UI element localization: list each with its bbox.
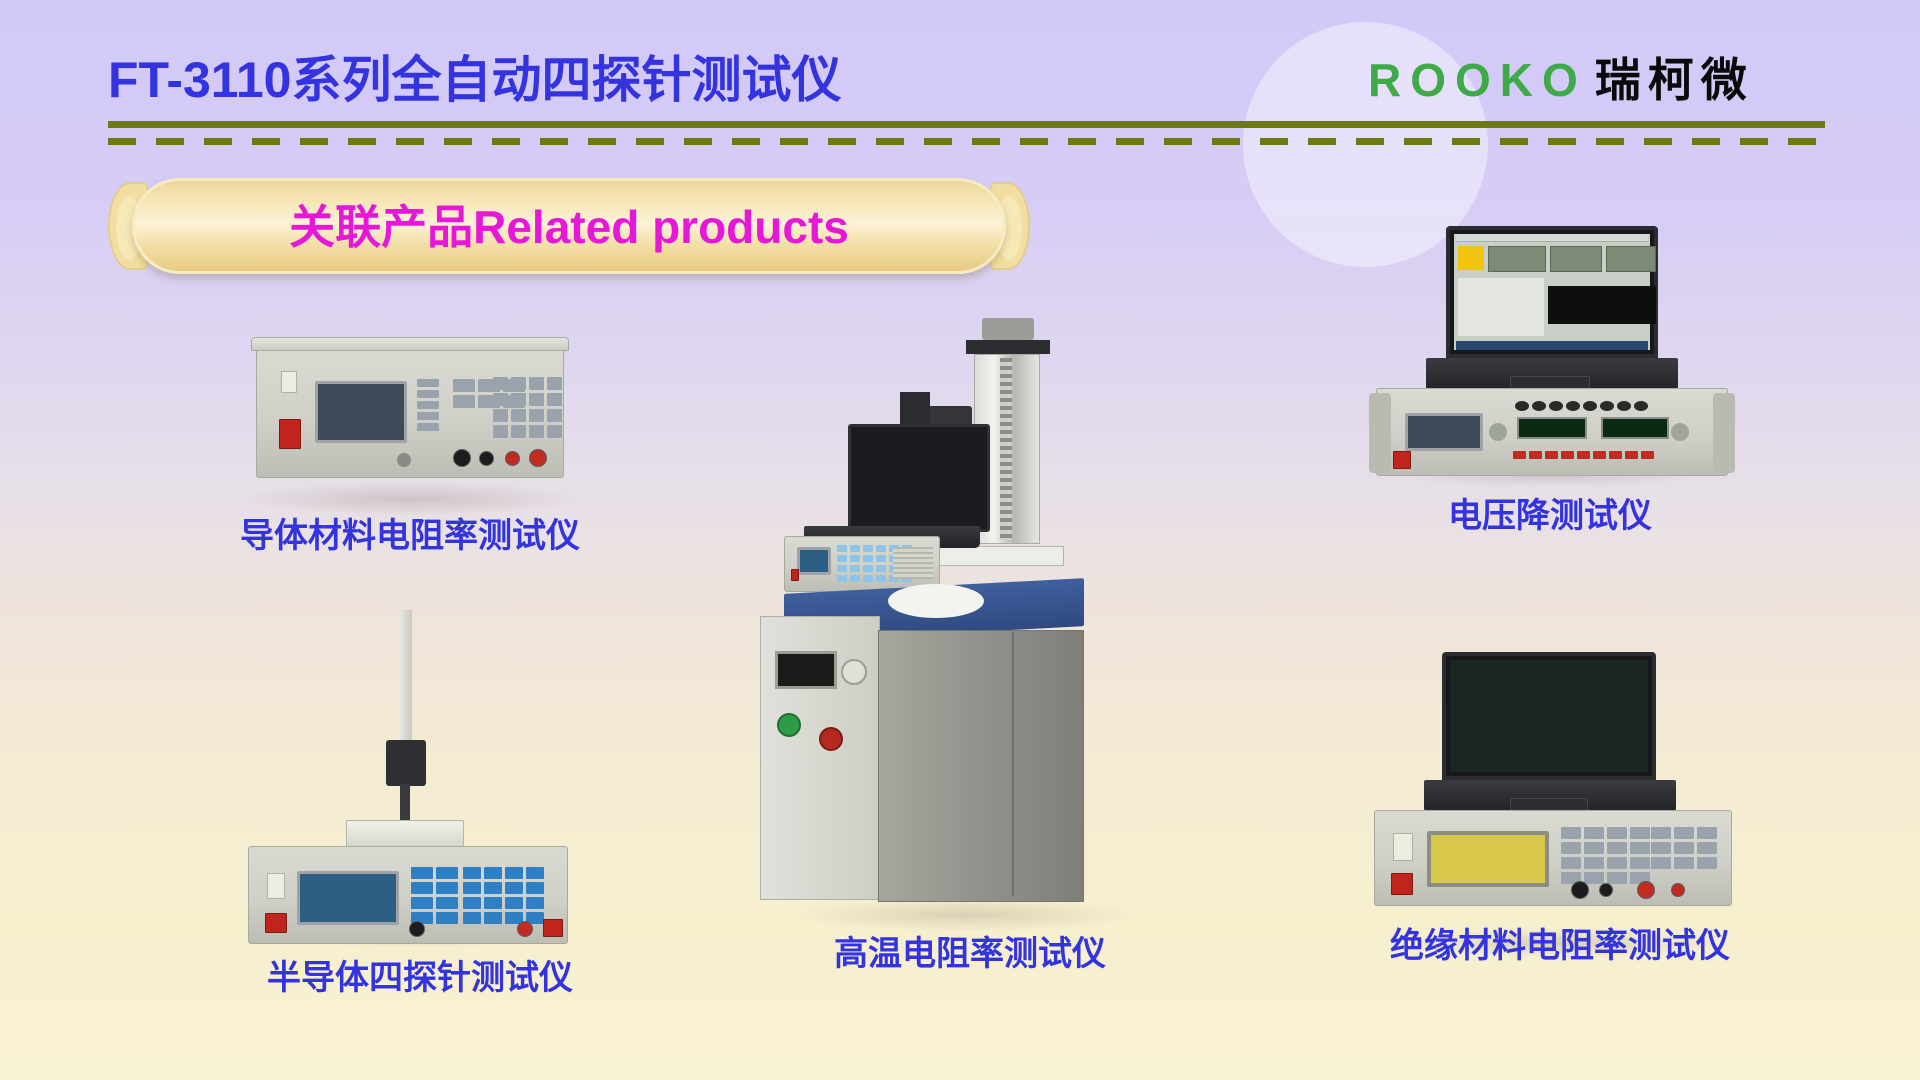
banana-jack-black-1[interactable] (1571, 881, 1589, 899)
banana-jack-red-1[interactable] (1637, 881, 1655, 899)
banana-jack-black-2[interactable] (1599, 883, 1613, 897)
tower-top-motor (982, 318, 1034, 340)
softkey-column[interactable] (417, 379, 439, 431)
probe-post (400, 610, 412, 750)
function-keypad[interactable] (411, 867, 458, 924)
instrument-chassis (248, 846, 568, 944)
header-divider-dashed (108, 138, 1825, 145)
rack-handle-right (1713, 393, 1735, 473)
product-insulation-resistivity-tester[interactable]: 绝缘材料电阻率测试仪 (1330, 660, 1790, 990)
instrument-display (315, 381, 407, 443)
banana-jack-black-2[interactable] (479, 451, 494, 466)
instrument-chassis (1376, 388, 1728, 476)
product-semiconductor-four-point-probe-tester[interactable]: 半导体四探针测试仪 (200, 620, 640, 990)
banana-jack-black[interactable] (409, 921, 425, 937)
product-caption: 高温电阻率测试仪 (834, 926, 1106, 975)
binding-post-left[interactable] (1489, 423, 1507, 441)
laptop-keyboard-base (1424, 780, 1676, 814)
power-switch[interactable] (279, 419, 301, 449)
instrument-display (1427, 831, 1549, 887)
product-high-temperature-resistivity-tester[interactable]: 高温电阻率测试仪 (760, 340, 1180, 990)
bnc-connector[interactable] (397, 453, 411, 467)
product-conductor-resistivity-tester[interactable]: 导体材料电阻率测试仪 (180, 300, 640, 560)
banana-jack-red-1[interactable] (505, 451, 520, 466)
instrument-chassis (256, 348, 564, 478)
laptop-keyboard-base (1426, 358, 1678, 392)
power-switch[interactable] (1393, 451, 1411, 469)
function-keypad[interactable] (1651, 827, 1717, 869)
power-switch[interactable] (791, 569, 799, 581)
numeric-keypad[interactable] (463, 867, 544, 924)
product-caption: 绝缘材料电阻率测试仪 (1390, 918, 1730, 967)
numeric-keypad[interactable] (1561, 827, 1650, 884)
start-button-green[interactable] (777, 713, 801, 737)
chassis-top-lid (251, 337, 569, 351)
digital-readout-2 (1601, 417, 1669, 439)
banana-jack-red-2[interactable] (1671, 883, 1685, 897)
usb-port (267, 873, 285, 899)
banner-body: 关联产品Related products (132, 178, 1006, 274)
probe-head (386, 740, 426, 786)
control-knob-row[interactable] (1515, 401, 1648, 411)
laptop-screen (1442, 652, 1656, 780)
temperature-controller-display (775, 651, 837, 689)
rack-handle-left (1369, 393, 1391, 473)
section-banner: 关联产品Related products (108, 178, 1030, 274)
instrument-display (797, 547, 831, 575)
sample-platter (888, 584, 984, 618)
tower-top-bracket (966, 340, 1050, 354)
product-caption: 半导体四探针测试仪 (267, 950, 573, 999)
brand-logo: ROOKO 瑞柯微 (1368, 44, 1754, 110)
page-title: FT-3110系列全自动四探针测试仪 (108, 40, 841, 112)
brand-logo-latin: ROOKO (1368, 53, 1587, 107)
laptop-screen (1446, 226, 1658, 358)
digital-readout-1 (1517, 417, 1587, 439)
product-voltage-drop-tester[interactable]: 电压降测试仪 (1330, 240, 1770, 560)
binding-post-right[interactable] (1671, 423, 1689, 441)
instrument-chassis (784, 536, 940, 592)
banana-jack-red-2[interactable] (529, 449, 547, 467)
banana-jack-red[interactable] (517, 921, 533, 937)
brand-logo-chinese: 瑞柯微 (1595, 44, 1754, 110)
product-caption: 导体材料电阻率测试仪 (240, 508, 580, 557)
banana-jack-black-1[interactable] (453, 449, 471, 467)
laptop-screen-ui (1450, 660, 1648, 772)
lead-screw (1000, 358, 1012, 540)
instrument-display (1405, 413, 1483, 451)
cabinet-door-seam (1012, 632, 1014, 896)
stop-button-red[interactable] (819, 727, 843, 751)
banner-label: 关联产品Related products (289, 191, 849, 257)
ventilation-grille (893, 547, 933, 579)
header-divider-solid (108, 121, 1825, 128)
power-switch[interactable] (265, 913, 287, 933)
numeric-keypad[interactable] (493, 377, 562, 438)
usb-port (281, 371, 297, 393)
terminal-row[interactable] (1513, 451, 1654, 459)
cabinet-body (878, 630, 1084, 902)
laptop-screen (848, 424, 990, 532)
laptop-screen-ui (1454, 234, 1650, 350)
usb-port (1393, 833, 1413, 861)
sample-stage (346, 820, 464, 848)
instrument-chassis (1374, 810, 1732, 906)
instrument-display (297, 871, 399, 925)
power-switch[interactable] (1391, 873, 1413, 895)
cabinet-control-panel (760, 616, 880, 900)
analog-meter (841, 659, 867, 685)
product-caption: 电压降测试仪 (1448, 488, 1652, 537)
page-header: FT-3110系列全自动四探针测试仪 ROOKO 瑞柯微 (0, 0, 1920, 175)
terminal-red[interactable] (543, 919, 563, 937)
